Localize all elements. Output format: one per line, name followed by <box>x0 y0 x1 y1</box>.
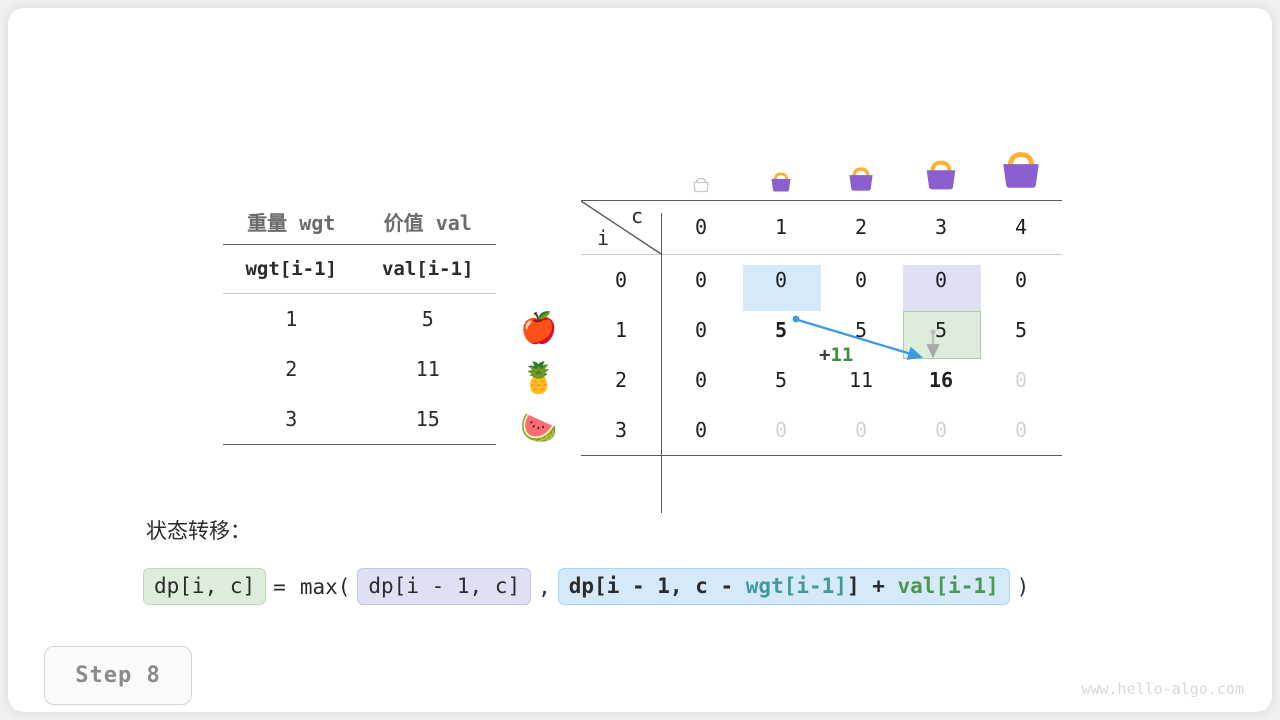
dp-cell-3-2: 0 <box>821 405 901 455</box>
bag-icon-0 <box>661 174 741 196</box>
item-table-header-wgt: 重量 wgt <box>223 207 360 236</box>
bag-filled-icon <box>844 162 878 196</box>
item-table-row: 3 15 <box>223 394 496 444</box>
dp-row-header-3: 3 <box>581 405 661 455</box>
dp-cell-3-3: 0 <box>901 405 981 455</box>
state-transition-formula: dp[i, c] = max( dp[i - 1, c] , dp[i - 1,… <box>143 568 1036 605</box>
dp-cell-1-4: 5 <box>981 305 1061 355</box>
dp-cell-2-3: 16 <box>901 355 981 405</box>
item-table-subheader-wgt: wgt[i-1] <box>223 258 360 280</box>
watermark: www.hello-algo.com <box>1081 680 1244 698</box>
dp-cell-2-1: 5 <box>741 355 821 405</box>
dp-col-header-2: 2 <box>821 201 901 254</box>
bag-icon-2 <box>821 162 901 196</box>
fruit-icon-column: 🍎 🍍 🍉 <box>516 304 562 454</box>
dp-col-header-1: 1 <box>741 201 821 254</box>
item-table-subheader-row: wgt[i-1] val[i-1] <box>223 245 496 293</box>
formula-option2-mid: ] + <box>847 574 898 598</box>
formula-comma: , <box>531 575 558 599</box>
bag-filled-icon <box>920 154 962 196</box>
item-table-header-row: 重量 wgt 价值 val <box>223 198 496 244</box>
formula-option1-box: dp[i - 1, c] <box>357 568 531 605</box>
item-table-divider-bottom <box>223 444 496 445</box>
dp-row-header-2: 2 <box>581 355 661 405</box>
bag-capacity-icons <box>661 134 1061 196</box>
formula-close: ) <box>1010 575 1037 599</box>
dp-cell-0-3: 0 <box>901 255 981 305</box>
dp-table: 0 1 2 3 4 0 0 0 0 0 0 1 <box>581 200 1062 456</box>
dp-cell-1-0: 0 <box>661 305 741 355</box>
bag-outline-icon <box>690 174 712 196</box>
bag-icon-1 <box>741 168 821 196</box>
increment-value: 11 <box>830 344 853 366</box>
item-wgt-3: 3 <box>223 407 360 431</box>
dp-table-header-row: 0 1 2 3 4 <box>581 201 1062 254</box>
dp-col-header-4: 4 <box>981 201 1061 254</box>
bag-icon-4 <box>981 144 1061 196</box>
dp-row-3: 3 0 0 0 0 0 <box>581 405 1062 455</box>
formula-target-box: dp[i, c] <box>143 568 266 605</box>
dp-col-header-0: 0 <box>661 201 741 254</box>
dp-col-header-3: 3 <box>901 201 981 254</box>
dp-cell-3-0: 0 <box>661 405 741 455</box>
formula-option2-box: dp[i - 1, c - wgt[i-1]] + val[i-1] <box>558 568 1010 605</box>
dp-cell-1-1: 5 <box>741 305 821 355</box>
formula-option2-wgt: wgt[i-1] <box>746 574 847 598</box>
dp-row-0: 0 0 0 0 0 0 <box>581 255 1062 305</box>
dp-cell-3-1: 0 <box>741 405 821 455</box>
dp-cell-1-3: 5 <box>901 305 981 355</box>
formula-equals: = <box>266 575 293 599</box>
step-badge: Step 8 <box>44 646 192 705</box>
item-table-subheader-val: val[i-1] <box>360 258 497 280</box>
pineapple-icon: 🍍 <box>516 354 562 404</box>
bag-filled-icon <box>767 168 795 196</box>
bag-icon-3 <box>901 154 981 196</box>
item-val-3: 15 <box>360 407 497 431</box>
dp-row-header-1: 1 <box>581 305 661 355</box>
item-wgt-2: 2 <box>223 357 360 381</box>
slide-card: 重量 wgt 价值 val wgt[i-1] val[i-1] 1 5 2 11… <box>8 8 1272 712</box>
watermelon-icon: 🍉 <box>516 404 562 454</box>
state-transition-label: 状态转移： <box>146 515 251 545</box>
dp-table-divider-bottom <box>581 455 1062 456</box>
item-table: 重量 wgt 价值 val wgt[i-1] val[i-1] 1 5 2 11… <box>223 198 496 445</box>
dp-cell-2-4: 0 <box>981 355 1061 405</box>
dp-cell-0-1: 0 <box>741 255 821 305</box>
item-table-row: 1 5 <box>223 294 496 344</box>
bag-filled-icon <box>995 144 1047 196</box>
item-table-header-val: 价值 val <box>360 207 497 236</box>
item-val-2: 11 <box>360 357 497 381</box>
item-table-row: 2 11 <box>223 344 496 394</box>
increment-sign: + <box>819 344 830 366</box>
item-wgt-1: 1 <box>223 307 360 331</box>
transition-increment-annotation: +11 <box>819 344 853 366</box>
dp-cell-3-4: 0 <box>981 405 1061 455</box>
dp-cell-0-4: 0 <box>981 255 1061 305</box>
apple-icon: 🍎 <box>516 304 562 354</box>
dp-corner-spacer <box>581 201 661 254</box>
formula-max-open: max( <box>293 575 358 599</box>
dp-cell-2-0: 0 <box>661 355 741 405</box>
item-val-1: 5 <box>360 307 497 331</box>
dp-cell-0-0: 0 <box>661 255 741 305</box>
dp-cell-0-2: 0 <box>821 255 901 305</box>
formula-option2-prefix: dp[i - 1, c - <box>569 574 746 598</box>
dp-row-header-0: 0 <box>581 255 661 305</box>
formula-option2-val: val[i-1] <box>898 574 999 598</box>
